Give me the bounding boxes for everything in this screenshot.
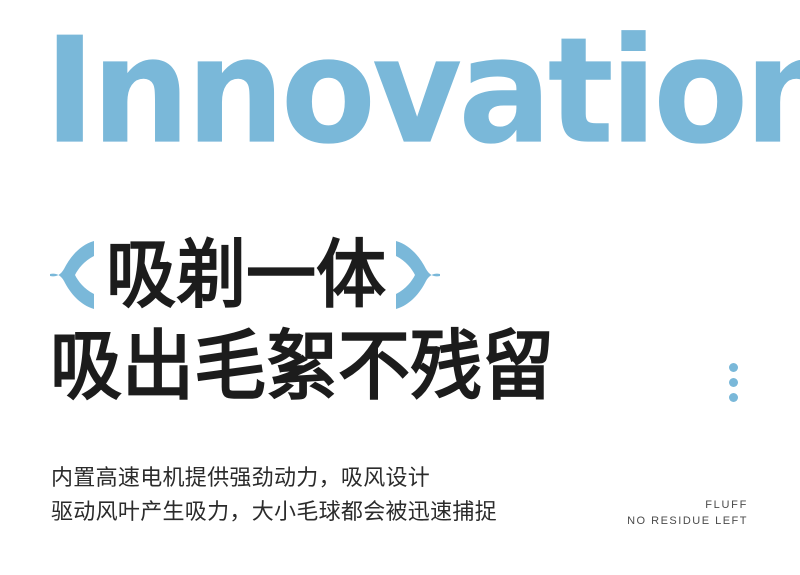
headline-line-1-text: 吸剃一体 [106,236,386,314]
headline-line-2-text: 吸出毛絮不残留 [50,326,554,407]
headline-line-1: 吸剃一体 [50,232,750,318]
chinese-headline-block: 吸剃一体 吸出毛絮不残留 [50,232,750,408]
poster-canvas: Innovation 吸剃一体 吸出毛絮不残留 内置高速电机提供强劲动力，吸风设… [0,0,800,575]
body-copy: 内置高速电机提供强劲动力，吸风设计 驱动风叶产生吸力，大小毛球都会被迅速捕捉 [51,462,497,530]
dot-icon [729,393,738,402]
dot-icon [729,378,738,387]
chevron-right-icon [396,239,440,311]
english-caption: FLUFF NO RESIDUE LEFT [627,497,748,529]
dot-icon [729,363,738,372]
chevron-left-icon [50,239,94,311]
body-copy-line-1: 内置高速电机提供强劲动力，吸风设计 [51,462,497,496]
headline-line-2: 吸出毛絮不残留 [50,324,750,408]
caption-subtitle: NO RESIDUE LEFT [627,513,748,529]
three-dots-decoration [727,363,739,402]
hero-headline: Innovation [44,24,800,158]
caption-title: FLUFF [627,497,748,513]
body-copy-line-2: 驱动风叶产生吸力，大小毛球都会被迅速捕捉 [51,496,497,530]
